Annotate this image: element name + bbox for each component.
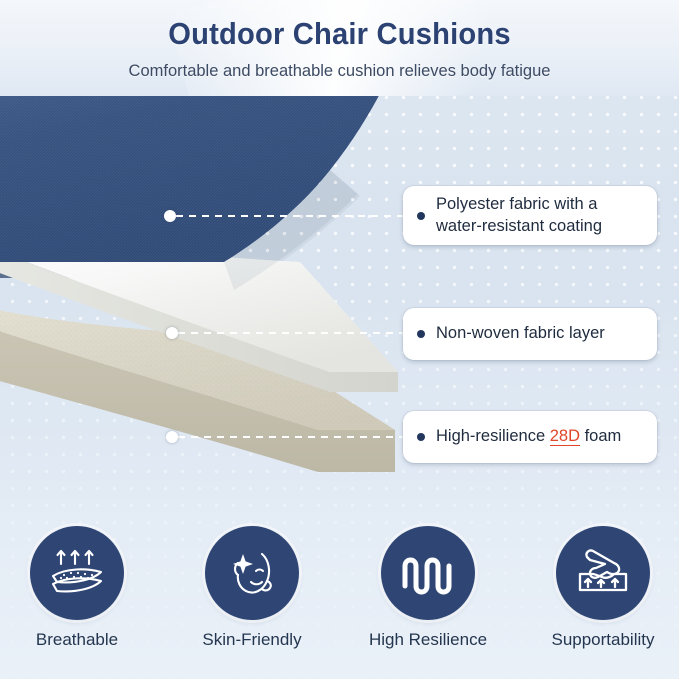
feature-skin-friendly[interactable]: Skin-Friendly xyxy=(167,526,337,650)
callout-text: High-resilience 28D foam xyxy=(436,426,621,447)
feature-icon-circle xyxy=(205,526,299,620)
callout-text: Polyester fabric with a water-resistant … xyxy=(436,194,602,236)
feature-label: Skin-Friendly xyxy=(167,630,337,650)
callout-text-before: High-resilience xyxy=(436,427,550,445)
callout-text: Non-woven fabric layer xyxy=(436,323,605,344)
callout-bullet-icon xyxy=(417,433,425,441)
callout-text-after: foam xyxy=(580,427,621,445)
feature-label: Breathable xyxy=(0,630,162,650)
connector-line-2 xyxy=(178,332,408,334)
connector-origin-dot-1 xyxy=(164,210,176,222)
connector-origin-dot-3 xyxy=(166,431,178,443)
feature-label: High Resilience xyxy=(343,630,513,650)
feature-breathable[interactable]: Breathable xyxy=(0,526,162,650)
callout-bullet-icon xyxy=(417,212,425,220)
feature-icon-circle xyxy=(381,526,475,620)
density-highlight: 28D xyxy=(550,427,580,446)
feature-icon-circle xyxy=(30,526,124,620)
connector-line-3 xyxy=(178,436,408,438)
connector-origin-dot-2 xyxy=(166,327,178,339)
feature-high-resilience[interactable]: High Resilience xyxy=(343,526,513,650)
infographic-canvas: Outdoor Chair Cushions Comfortable and b… xyxy=(0,0,679,679)
page-title: Outdoor Chair Cushions xyxy=(20,16,658,52)
feature-icon-circle xyxy=(556,526,650,620)
spring-coil-icon xyxy=(399,550,457,596)
face-sparkle-icon xyxy=(225,546,279,600)
feature-supportability[interactable]: Supportability xyxy=(518,526,679,650)
hand-press-foam-icon xyxy=(574,546,632,600)
page-subtitle: Comfortable and breathable cushion relie… xyxy=(0,62,679,81)
feature-label: Supportability xyxy=(518,630,679,650)
feature-row: Breathable Skin-Friendly xyxy=(0,518,679,679)
breathable-layers-arrows-icon xyxy=(48,546,106,600)
callout-polyester[interactable]: Polyester fabric with a water-resistant … xyxy=(403,186,657,245)
callout-foam[interactable]: High-resilience 28D foam xyxy=(403,411,657,463)
connector-line-1 xyxy=(176,215,408,217)
callout-bullet-icon xyxy=(417,330,425,338)
callout-non-woven[interactable]: Non-woven fabric layer xyxy=(403,308,657,360)
